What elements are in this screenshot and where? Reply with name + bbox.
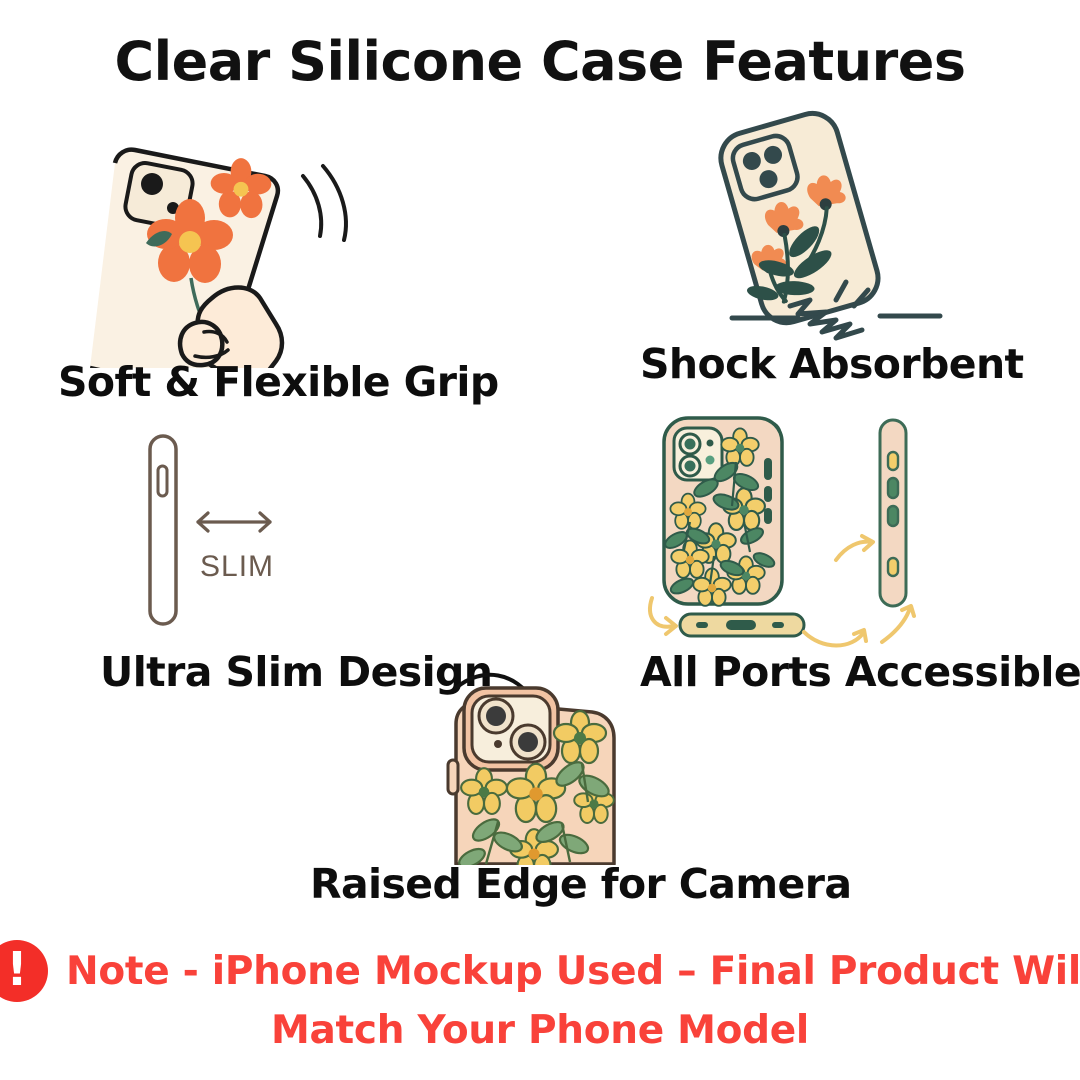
phone-side-profile-icon: SLIM — [100, 418, 420, 643]
feature-shock-absorbent: Shock Absorbent — [640, 110, 985, 410]
feature-soft-flexible-grip: Soft & Flexible Grip — [60, 118, 460, 418]
phone-impact-burst-icon — [640, 110, 985, 350]
exclamation-glyph: ! — [7, 946, 28, 992]
page-title: Clear Silicone Case Features — [0, 30, 1080, 93]
phone-ports-cutouts-icon — [640, 410, 1015, 655]
slim-measure-label: SLIM — [200, 550, 274, 583]
infographic-page: Clear Silicone Case Features — [0, 0, 1080, 1080]
phone-raised-camera-edge-icon — [310, 660, 775, 865]
note-text-line2: Match Your Phone Model — [271, 1008, 809, 1053]
feature-label-camera: Raised Edge for Camera — [310, 860, 775, 908]
note-line-1: ! Note - iPhone Mockup Used – Final Prod… — [0, 940, 1080, 1002]
exclamation-circle-icon: ! — [0, 940, 48, 1002]
feature-raised-edge-camera: Raised Edge for Camera — [310, 660, 775, 930]
feature-label-grip: Soft & Flexible Grip — [58, 358, 458, 406]
feature-label-shock: Shock Absorbent — [640, 340, 985, 388]
hand-holding-phone-icon — [60, 118, 460, 368]
note-block: ! Note - iPhone Mockup Used – Final Prod… — [0, 940, 1080, 1053]
note-text-line1: Note - iPhone Mockup Used – Final Produc… — [66, 949, 1080, 994]
